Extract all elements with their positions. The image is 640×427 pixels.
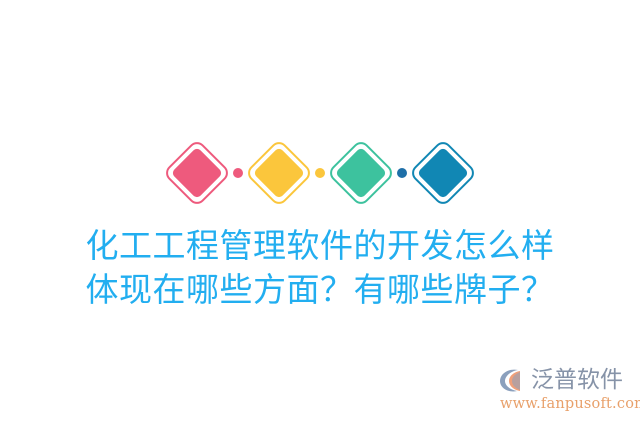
diamond-blue-core <box>413 143 474 204</box>
diamond-pink-core <box>167 143 228 204</box>
diamond-strip <box>0 138 640 208</box>
diamond-pink <box>164 140 230 206</box>
brand-logo-row: 泛普软件 <box>498 364 634 396</box>
diamond-green-core <box>331 143 392 204</box>
brand-url: www.fanpusoft.com <box>498 395 634 413</box>
brand-wordmark: 泛普软件 <box>531 366 623 394</box>
headline: 化工工程管理软件的开发怎么样 体现在哪些方面？有哪些牌子？ <box>0 224 640 312</box>
connector-dot-pink <box>233 168 243 178</box>
diamond-blue <box>410 140 476 206</box>
connector-dot-blue <box>397 168 407 178</box>
connector-dot-yellow <box>315 168 325 178</box>
brand-logo: 泛普软件 www.fanpusoft.com <box>498 364 634 420</box>
diamond-yellow <box>246 140 312 206</box>
fanpu-logo-icon <box>498 366 528 394</box>
headline-line-1: 化工工程管理软件的开发怎么样 <box>0 224 640 268</box>
headline-line-2: 体现在哪些方面？有哪些牌子？ <box>0 268 640 312</box>
diamond-green <box>328 140 394 206</box>
diamond-yellow-core <box>249 143 310 204</box>
